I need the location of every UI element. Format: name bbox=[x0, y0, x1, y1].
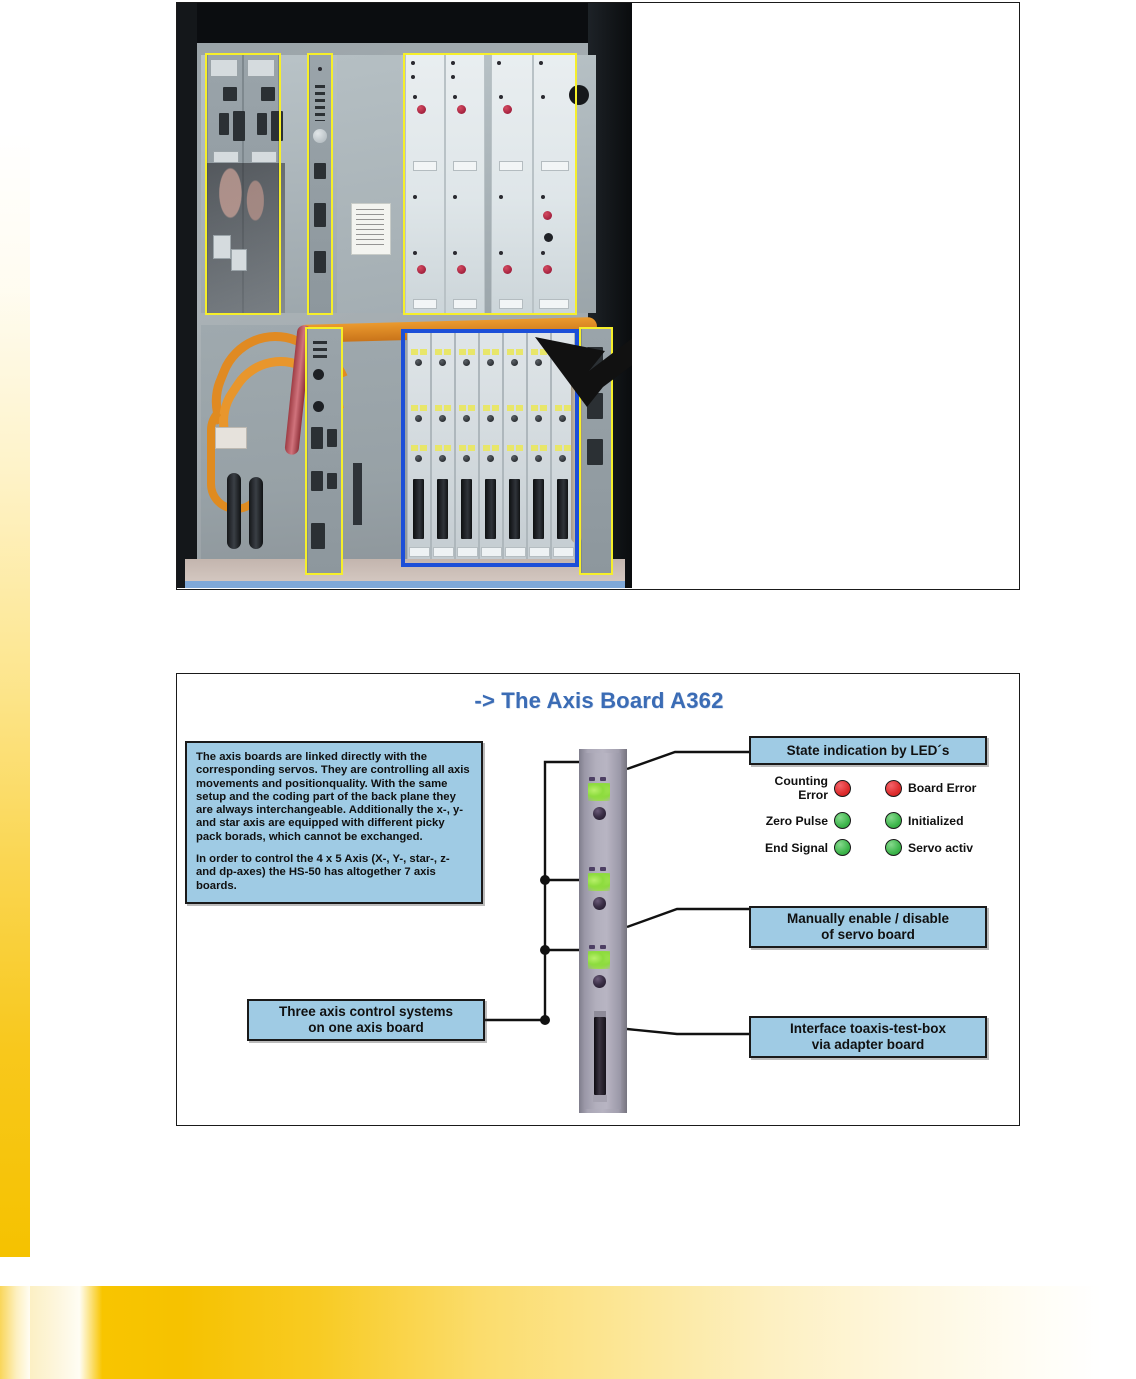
diagram-title: -> The Axis Board A362 bbox=[177, 688, 1021, 714]
highlight-cpu-board bbox=[305, 327, 343, 575]
info-paragraph-2: In order to control the 4 x 5 Axis (X-, … bbox=[196, 853, 472, 893]
led-dot-end-signal bbox=[834, 839, 851, 856]
led-dot-servo-activ bbox=[885, 839, 902, 856]
legend-label-initialized: Initialized bbox=[902, 814, 987, 828]
highlight-power-cards bbox=[403, 53, 577, 315]
led-cluster-3 bbox=[588, 945, 610, 971]
callout-interface-text: Interface toaxis-test-box via adapter bo… bbox=[790, 1021, 946, 1053]
led-dot-zero-pulse bbox=[834, 812, 851, 829]
bottom-accent-band-left-cap bbox=[0, 1286, 30, 1379]
highlight-io-boards bbox=[205, 53, 281, 315]
left-accent-strip bbox=[0, 130, 30, 1257]
callout-interface-line1: Interface toaxis-test-box bbox=[790, 1021, 946, 1036]
info-paragraph-1: The axis boards are linked directly with… bbox=[196, 751, 472, 844]
led-cluster-1 bbox=[588, 777, 610, 803]
cabinet-left-frame bbox=[177, 3, 197, 588]
info-text-box: The axis boards are linked directly with… bbox=[185, 741, 483, 904]
legend-row: End Signal Servo activ bbox=[749, 839, 987, 856]
slot-gap bbox=[353, 463, 362, 525]
callout-interface: Interface toaxis-test-box via adapter bo… bbox=[749, 1016, 987, 1058]
callout-led-state-label: State indication by LED´s bbox=[787, 743, 950, 759]
led-cluster-2 bbox=[588, 867, 610, 893]
legend-label-servo-activ: Servo activ bbox=[902, 841, 987, 855]
rack-photograph bbox=[177, 3, 632, 588]
callout-led-state: State indication by LED´s bbox=[749, 736, 987, 765]
legend-label-end-signal: End Signal bbox=[749, 841, 834, 855]
led-dot-board-error bbox=[885, 780, 902, 797]
callout-enable-disable-text: Manually enable / disable of servo board bbox=[787, 911, 949, 943]
blank-panel bbox=[337, 55, 401, 313]
axis-board-diagram-panel: -> The Axis Board A362 The axis boards a… bbox=[176, 673, 1020, 1126]
legend-row: Zero Pulse Initialized bbox=[749, 812, 987, 829]
enable-button-3 bbox=[593, 975, 606, 988]
highlight-axis-boards bbox=[401, 329, 579, 567]
callout-enable-disable-line1: Manually enable / disable bbox=[787, 911, 949, 926]
highlight-right-io-board bbox=[579, 327, 613, 575]
callout-interface-line2: via adapter board bbox=[812, 1037, 925, 1052]
connector-shroud-bottom bbox=[593, 1095, 607, 1102]
callout-three-axis: Three axis control systems on one axis b… bbox=[247, 999, 485, 1041]
led-dot-initialized bbox=[885, 812, 902, 829]
legend-label-board-error: Board Error bbox=[902, 781, 987, 795]
bottom-accent-band bbox=[0, 1286, 1136, 1379]
rack-photo-panel bbox=[176, 2, 1020, 590]
callout-three-axis-line1: Three axis control systems bbox=[279, 1004, 453, 1019]
callout-three-axis-line2: on one axis board bbox=[308, 1020, 424, 1035]
led-dot-counting-error bbox=[834, 780, 851, 797]
callout-three-axis-text: Three axis control systems on one axis b… bbox=[279, 1004, 453, 1036]
axis-board-faceplate-photo bbox=[579, 749, 627, 1113]
callout-enable-disable-line2: of servo board bbox=[821, 927, 915, 942]
callout-enable-disable: Manually enable / disable of servo board bbox=[749, 906, 987, 948]
highlight-center-board bbox=[307, 53, 333, 315]
cabinet-floor-edge bbox=[185, 581, 625, 588]
enable-button-2 bbox=[593, 897, 606, 910]
paper-label-text bbox=[356, 209, 384, 247]
legend-label-counting-error: Counting Error bbox=[749, 774, 834, 802]
legend-label-zero-pulse: Zero Pulse bbox=[749, 814, 834, 828]
legend-row: Counting Error Board Error bbox=[749, 774, 987, 802]
adapter-connector bbox=[594, 1017, 606, 1095]
led-legend: Counting Error Board Error Zero Pulse In… bbox=[749, 774, 987, 866]
enable-button-1 bbox=[593, 807, 606, 820]
